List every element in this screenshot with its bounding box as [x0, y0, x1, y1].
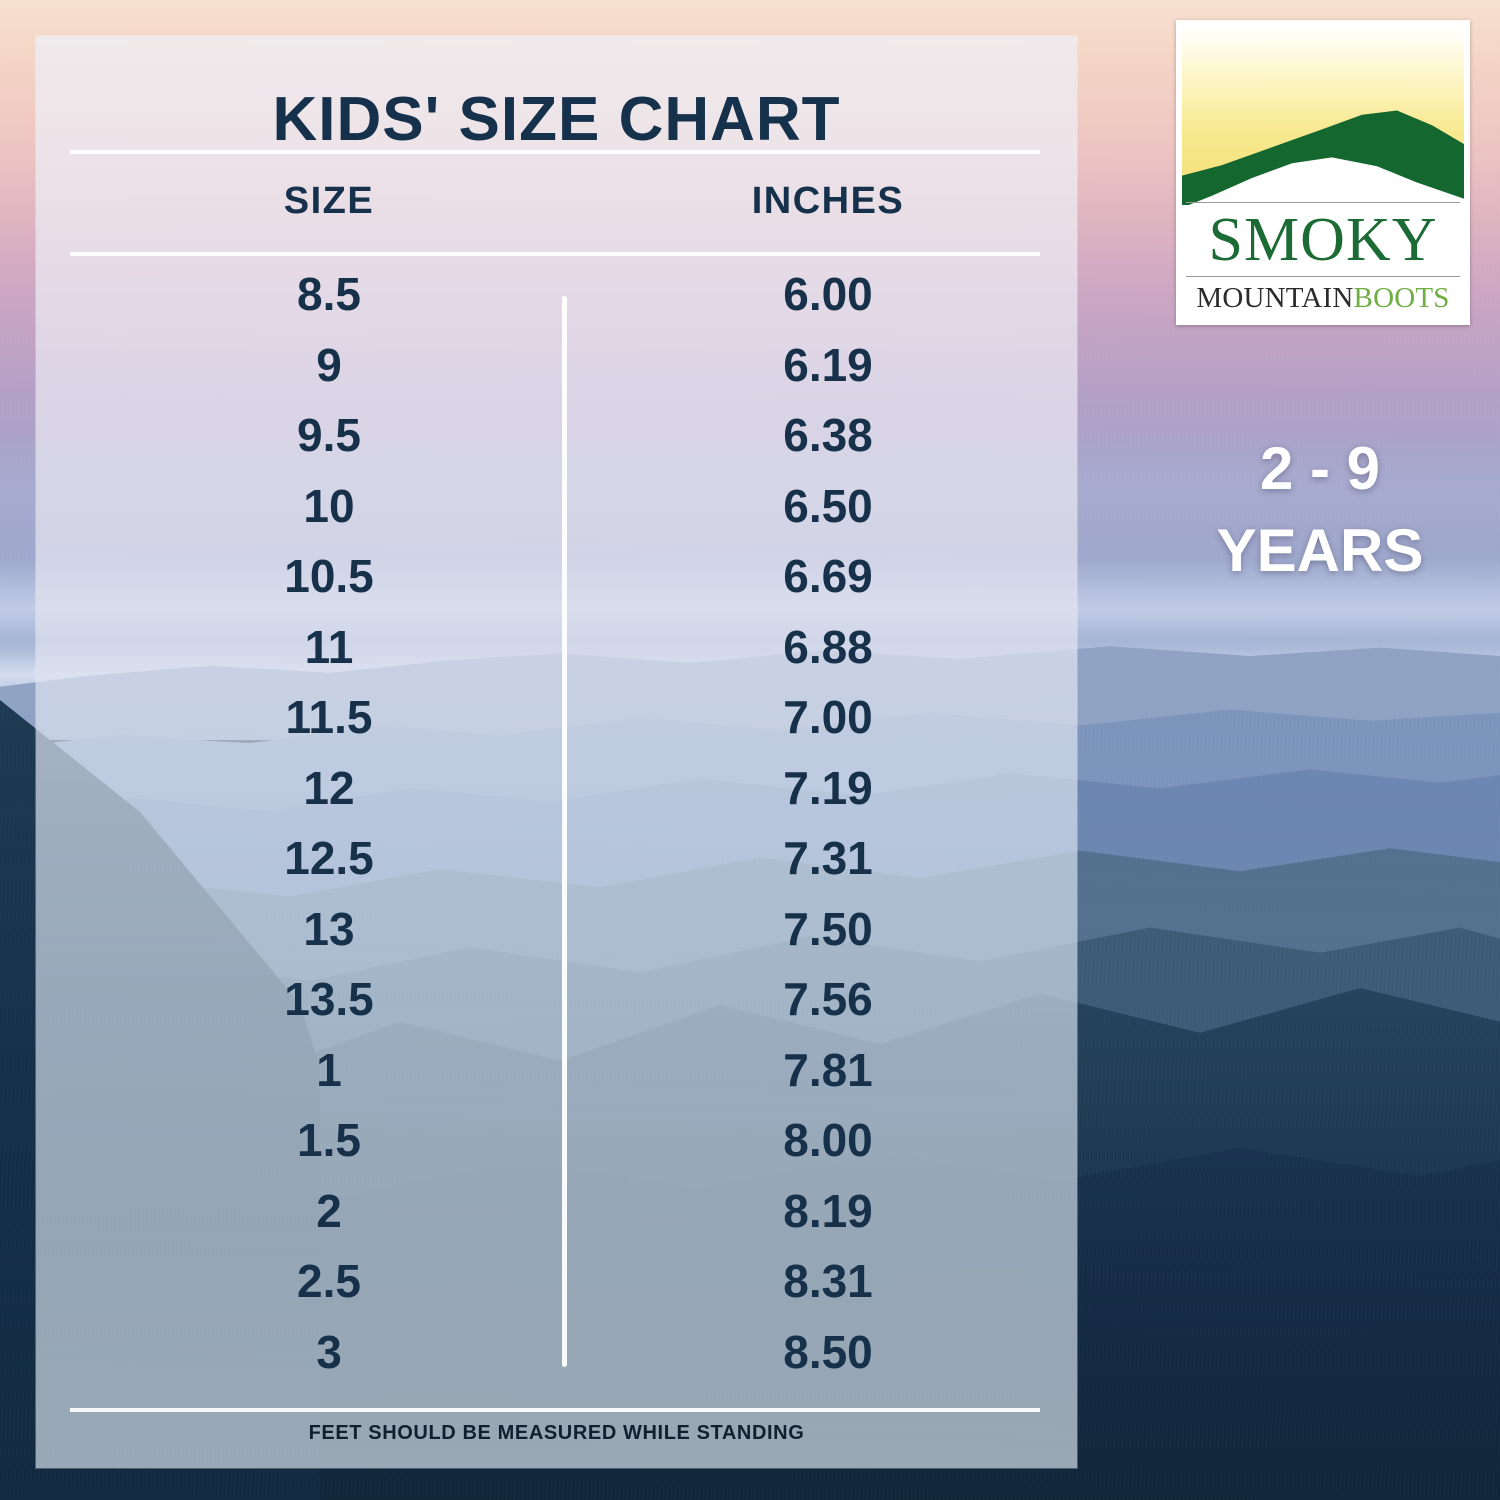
smoky-mountain-boots-logo: SMOKY MOUNTAINBOOTS	[1176, 20, 1470, 325]
cell-size: 11	[189, 617, 469, 677]
cell-inches: 6.38	[688, 405, 968, 465]
column-header-size: SIZE	[189, 180, 469, 223]
logo-artwork: SMOKY MOUNTAINBOOTS	[1182, 26, 1464, 319]
table-body: 8.56.0096.199.56.38106.5010.56.69116.881…	[36, 264, 1077, 1392]
cell-inches: 7.00	[688, 687, 968, 747]
table-row: 106.50	[36, 476, 1077, 547]
cell-inches: 7.56	[688, 969, 968, 1029]
divider-footer-top	[70, 1408, 1040, 1412]
cell-size: 8.5	[189, 264, 469, 324]
cell-size: 9.5	[189, 405, 469, 465]
cell-size: 12.5	[189, 828, 469, 888]
cell-size: 11.5	[189, 687, 469, 747]
measurement-note: FEET SHOULD BE MEASURED WHILE STANDING	[36, 1422, 1077, 1445]
divider-header-bottom	[70, 252, 1040, 256]
cell-inches: 7.50	[688, 899, 968, 959]
cell-size: 2.5	[189, 1251, 469, 1311]
cell-inches: 7.81	[688, 1040, 968, 1100]
cell-size: 10	[189, 476, 469, 536]
logo-hairline-bottom	[1186, 276, 1460, 277]
cell-inches: 8.00	[688, 1110, 968, 1170]
table-row: 9.56.38	[36, 405, 1077, 476]
cell-size: 13	[189, 899, 469, 959]
cell-size: 9	[189, 335, 469, 395]
cell-size: 1	[189, 1040, 469, 1100]
age-range-unit: YEARS	[1130, 510, 1500, 592]
size-chart-panel: KIDS' SIZE CHART SIZE INCHES 8.56.0096.1…	[36, 36, 1077, 1468]
age-range-value: 2 - 9	[1130, 428, 1500, 510]
table-row: 38.50	[36, 1322, 1077, 1393]
table-row: 13.57.56	[36, 969, 1077, 1040]
cell-inches: 8.50	[688, 1322, 968, 1382]
cell-size: 2	[189, 1181, 469, 1241]
logo-word-mountain: MOUNTAIN	[1196, 282, 1353, 314]
table-header-row: SIZE INCHES	[36, 180, 1077, 242]
cell-inches: 6.19	[688, 335, 968, 395]
cell-inches: 8.19	[688, 1181, 968, 1241]
divider-top	[70, 150, 1040, 154]
cell-inches: 7.19	[688, 758, 968, 818]
cell-size: 12	[189, 758, 469, 818]
age-range-badge: 2 - 9 YEARS	[1130, 428, 1500, 592]
table-row: 116.88	[36, 617, 1077, 688]
cell-size: 3	[189, 1322, 469, 1382]
logo-word-boots: BOOTS	[1354, 282, 1450, 314]
table-row: 10.56.69	[36, 546, 1077, 617]
logo-hairline-top	[1186, 202, 1460, 203]
cell-inches: 6.69	[688, 546, 968, 606]
logo-brand-smoky: SMOKY	[1182, 206, 1464, 274]
table-row: 2.58.31	[36, 1251, 1077, 1322]
cell-size: 10.5	[189, 546, 469, 606]
table-row: 137.50	[36, 899, 1077, 970]
cell-inches: 7.31	[688, 828, 968, 888]
logo-subtitle: MOUNTAINBOOTS	[1182, 278, 1464, 318]
cell-inches: 6.88	[688, 617, 968, 677]
table-row: 28.19	[36, 1181, 1077, 1252]
table-row: 8.56.00	[36, 264, 1077, 335]
cell-inches: 6.00	[688, 264, 968, 324]
cell-inches: 8.31	[688, 1251, 968, 1311]
cell-size: 13.5	[189, 969, 469, 1029]
table-row: 127.19	[36, 758, 1077, 829]
table-row: 11.57.00	[36, 687, 1077, 758]
table-row: 17.81	[36, 1040, 1077, 1111]
column-header-inches: INCHES	[688, 180, 968, 223]
cell-size: 1.5	[189, 1110, 469, 1170]
table-row: 96.19	[36, 335, 1077, 406]
cell-inches: 6.50	[688, 476, 968, 536]
page-title: KIDS' SIZE CHART	[36, 84, 1077, 155]
table-row: 1.58.00	[36, 1110, 1077, 1181]
table-row: 12.57.31	[36, 828, 1077, 899]
